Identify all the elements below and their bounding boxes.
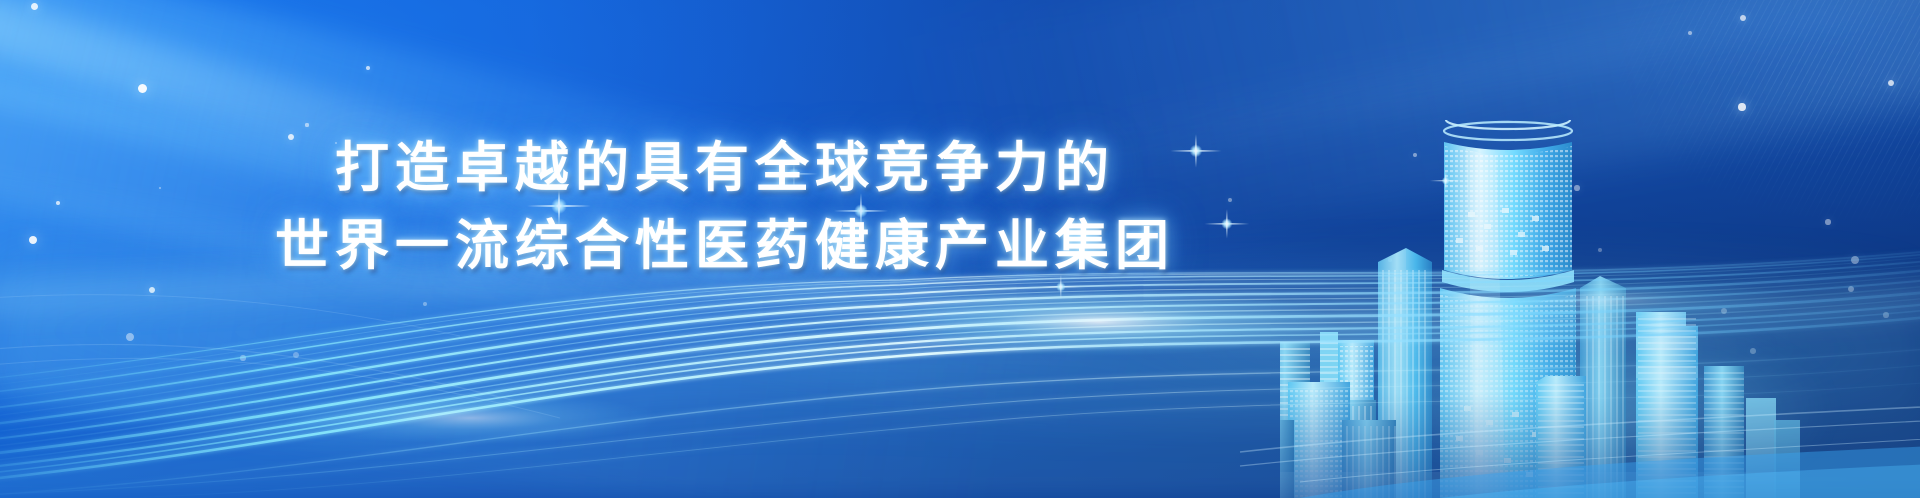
sparkle-icon <box>1195 150 1196 151</box>
hero-banner: 打造卓越的具有全球竞争力的 世界一流综合性医药健康产业集团 <box>0 0 1920 498</box>
sparkle-icon <box>1445 180 1446 181</box>
sparkle-icon <box>1060 286 1061 287</box>
sparkle-icon <box>558 205 559 206</box>
sparkle-layer <box>0 0 1920 498</box>
sparkle-icon <box>793 173 794 174</box>
sparkle-icon <box>860 210 861 211</box>
sparkle-icon <box>1226 223 1227 224</box>
